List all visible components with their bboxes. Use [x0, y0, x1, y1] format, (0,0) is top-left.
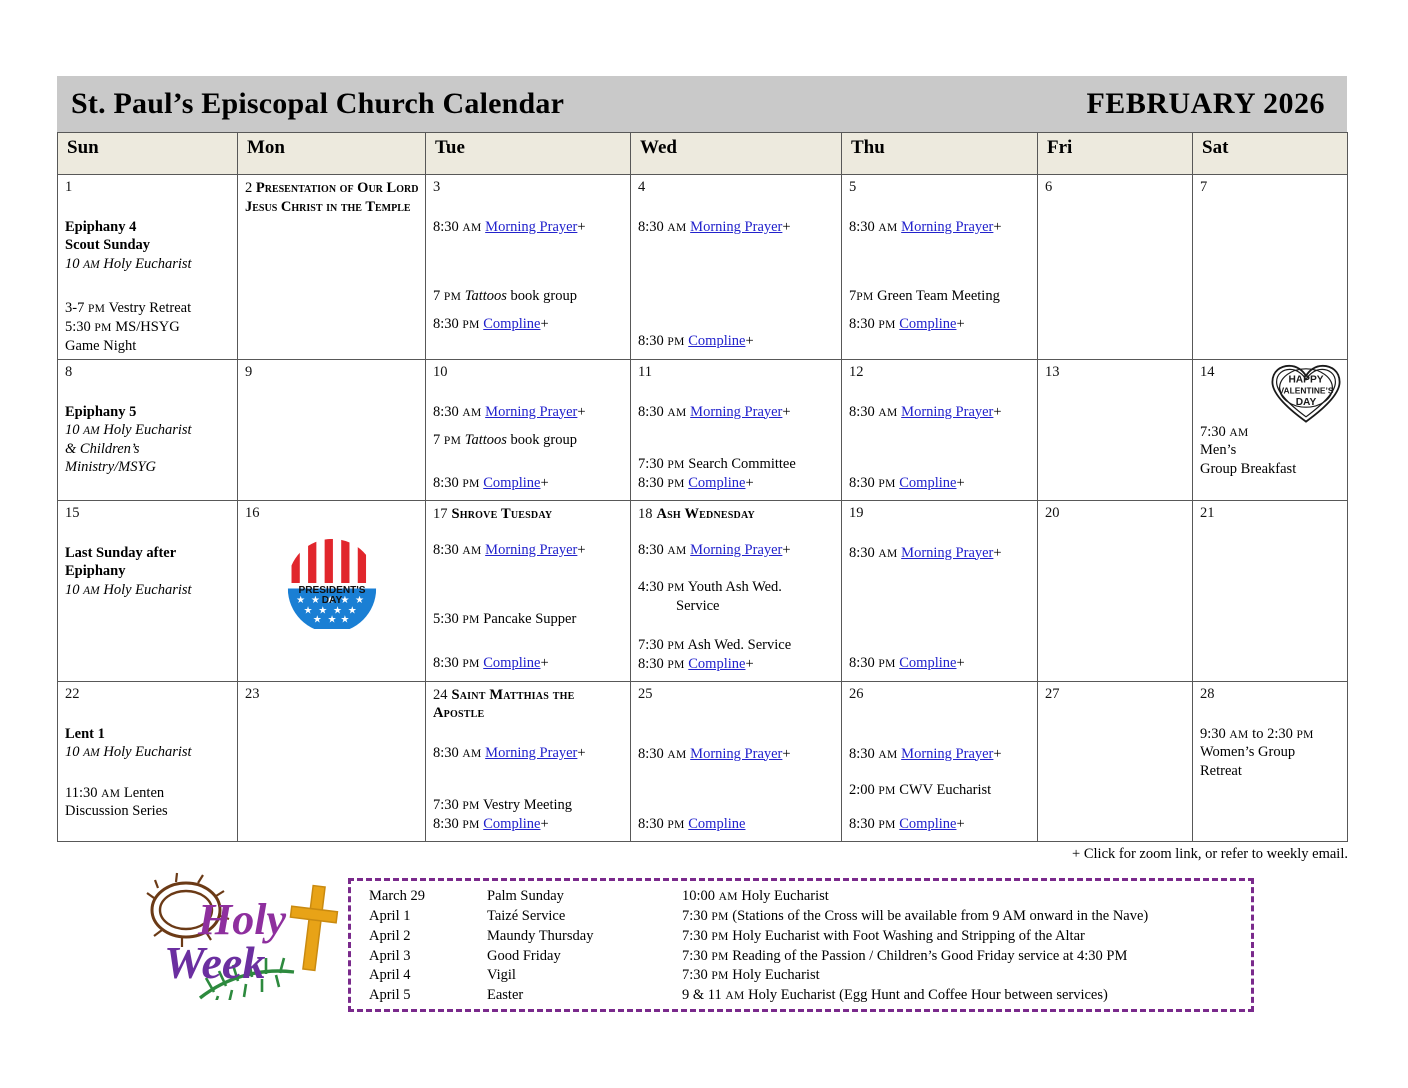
day-number: 12 — [849, 364, 1031, 381]
holy-week-row: March 29Palm Sunday10:00 AM Holy Euchari… — [351, 887, 1251, 907]
day-cell-7[interactable]: 7 — [1193, 175, 1348, 360]
svg-text:HAPPY: HAPPY — [1288, 374, 1323, 385]
day-event: 8:30 PM Compline+ — [849, 315, 1031, 334]
day-event: Retreat — [1200, 762, 1341, 781]
day-event: 5:30 PM MS/HSYG — [65, 318, 231, 337]
holy-week-service-detail: 10:00 AM Holy Eucharist — [682, 887, 1251, 907]
day-number: 27 — [1045, 686, 1186, 703]
presidents-day-badge-icon: ★★★★★ ★★★★ ★★★ PRESIDENT'S DAY — [286, 537, 378, 629]
day-cell-28[interactable]: 28 9:30 AM to 2:30 PM Women’s Group Retr… — [1193, 681, 1348, 841]
svg-text:★: ★ — [303, 605, 312, 616]
day-cell-23[interactable]: 23 — [238, 681, 426, 841]
day-event: 11:30 AM Lenten — [65, 784, 231, 803]
day-cell-19[interactable]: 19 8:30 AM Morning Prayer+ 8:30 PM Compl… — [842, 500, 1038, 681]
calendar-week-row: 1 Epiphany 4 Scout Sunday 10 AM Holy Euc… — [58, 175, 1348, 360]
day-event: 7 PM Tattoos book group — [433, 431, 624, 450]
day-cell-8[interactable]: 8 Epiphany 5 10 AM Holy Eucharist & Chil… — [58, 359, 238, 500]
day-event: 8:30 AM Morning Prayer+ — [433, 218, 624, 237]
day-number: 13 — [1045, 364, 1186, 381]
day-event: Lent 1 — [65, 725, 231, 744]
day-event: 9:30 AM to 2:30 PM — [1200, 725, 1341, 744]
compline-link[interactable]: Compline — [899, 475, 956, 491]
feast-day-label: 18 Ash Wednesday — [638, 505, 835, 523]
day-event: 8:30 AM Morning Prayer+ — [849, 544, 1031, 563]
calendar-title-bar: St. Paul’s Episcopal Church Calendar FEB… — [57, 76, 1347, 132]
day-event: Epiphany — [65, 562, 231, 581]
day-cell-27[interactable]: 27 — [1038, 681, 1193, 841]
holy-week-date: March 29 — [351, 887, 487, 907]
day-cell-26[interactable]: 26 8:30 AM Morning Prayer+ 2:00 PM CWV E… — [842, 681, 1038, 841]
morning-prayer-link[interactable]: Morning Prayer — [901, 404, 993, 420]
day-event: 8:30 PM Compline+ — [433, 315, 624, 334]
day-event: Scout Sunday — [65, 236, 231, 255]
day-event: 8:30 PM Compline+ — [849, 815, 1031, 834]
day-event: 8:30 AM Morning Prayer+ — [433, 744, 624, 763]
day-event: Last Sunday after — [65, 544, 231, 563]
morning-prayer-link[interactable]: Morning Prayer — [690, 542, 782, 558]
compline-link[interactable]: Compline — [688, 475, 745, 491]
day-number: 4 — [638, 179, 835, 196]
day-cell-6[interactable]: 6 — [1038, 175, 1193, 360]
day-cell-25[interactable]: 25 8:30 AM Morning Prayer+ 8:30 PM Compl… — [631, 681, 842, 841]
morning-prayer-link[interactable]: Morning Prayer — [901, 746, 993, 762]
day-number: 6 — [1045, 179, 1186, 196]
day-event: Men’s — [1200, 441, 1341, 460]
weekday-header-sat: Sat — [1193, 133, 1348, 175]
compline-link[interactable]: Compline — [483, 475, 540, 491]
holy-week-date: April 3 — [351, 947, 487, 967]
day-number: 15 — [65, 505, 231, 522]
weekday-header-sun: Sun — [58, 133, 238, 175]
day-event: Ministry/MSYG — [65, 458, 231, 477]
morning-prayer-link[interactable]: Morning Prayer — [485, 219, 577, 235]
calendar-week-row: 15 Last Sunday after Epiphany 10 AM Holy… — [58, 500, 1348, 681]
day-cell-5[interactable]: 5 8:30 AM Morning Prayer+ 7PM Green Team… — [842, 175, 1038, 360]
compline-link[interactable]: Compline — [483, 316, 540, 332]
compline-link[interactable]: Compline — [688, 333, 745, 349]
calendar-week-row: 22 Lent 1 10 AM Holy Eucharist 11:30 AM … — [58, 681, 1348, 841]
day-event: 8:30 PM Compline+ — [433, 654, 624, 673]
svg-text:DAY: DAY — [321, 595, 342, 606]
holy-week-service-name: Palm Sunday — [487, 887, 682, 907]
day-number: 23 — [245, 686, 419, 703]
compline-link[interactable]: Compline — [483, 816, 540, 832]
holy-week-schedule-box: March 29Palm Sunday10:00 AM Holy Euchari… — [348, 878, 1254, 1012]
day-number: 22 — [65, 686, 231, 703]
day-event: 8:30 AM Morning Prayer+ — [638, 745, 835, 764]
morning-prayer-link[interactable]: Morning Prayer — [901, 545, 993, 561]
day-cell-14[interactable]: 14 HAPPY VALENTINE’S DAY 7:30 AM Men’s G… — [1193, 359, 1348, 500]
day-number: 10 — [433, 364, 624, 381]
day-event: Discussion Series — [65, 802, 231, 821]
day-number: 5 — [849, 179, 1031, 196]
holy-week-date: April 2 — [351, 927, 487, 947]
day-event: 8:30 PM Compline+ — [849, 474, 1031, 493]
holy-week-service-name: Easter — [487, 986, 682, 1006]
day-event: 7:30 PM Ash Wed. Service — [638, 636, 835, 655]
day-event: 8:30 PM Compline+ — [433, 815, 624, 834]
compline-link[interactable]: Compline — [899, 655, 956, 671]
day-event: Women’s Group — [1200, 743, 1341, 762]
zoom-link-footnote: + Click for zoom link, or refer to weekl… — [1072, 846, 1348, 863]
day-number: 3 — [433, 179, 624, 196]
holy-week-date: April 4 — [351, 966, 487, 986]
day-event: 7:30 PM Search Committee — [638, 455, 835, 474]
holy-week-date: April 1 — [351, 907, 487, 927]
holy-week-row: April 1Taizé Service7:30 PM (Stations of… — [351, 907, 1251, 927]
holy-week-service-name: Maundy Thursday — [487, 927, 682, 947]
day-number: 21 — [1200, 505, 1341, 522]
day-event: 8:30 AM Morning Prayer+ — [849, 218, 1031, 237]
holy-week-row: April 5Easter9 & 11 AM Holy Eucharist (E… — [351, 986, 1251, 1006]
svg-text:★: ★ — [340, 614, 349, 625]
day-cell-20[interactable]: 20 — [1038, 500, 1193, 681]
day-cell-21[interactable]: 21 — [1193, 500, 1348, 681]
day-event: 8:30 AM Morning Prayer+ — [849, 403, 1031, 422]
morning-prayer-link[interactable]: Morning Prayer — [690, 219, 782, 235]
page-title: St. Paul’s Episcopal Church Calendar — [71, 87, 564, 121]
holy-week-service-detail: 7:30 PM Holy Eucharist with Foot Washing… — [682, 927, 1251, 947]
holy-week-service-name: Good Friday — [487, 947, 682, 967]
day-number: 1 — [65, 179, 231, 196]
day-event: 8:30 AM Morning Prayer+ — [638, 541, 835, 560]
day-event: 2:00 PM CWV Eucharist — [849, 781, 1031, 800]
holy-week-service-name: Vigil — [487, 966, 682, 986]
day-event: Game Night — [65, 337, 231, 356]
day-event: 8:30 PM Compline+ — [849, 654, 1031, 673]
weekday-header-thu: Thu — [842, 133, 1038, 175]
feast-day-label: 17 Shrove Tuesday — [433, 505, 624, 523]
holy-week-row: April 4Vigil7:30 PM Holy Eucharist — [351, 966, 1251, 986]
holy-week-row: April 2Maundy Thursday7:30 PM Holy Eucha… — [351, 927, 1251, 947]
day-event: Epiphany 5 — [65, 403, 231, 422]
day-cell-4[interactable]: 4 8:30 AM Morning Prayer+ 8:30 PM Compli… — [631, 175, 842, 360]
holy-week-service-detail: 7:30 PM Reading of the Passion / Childre… — [682, 947, 1251, 967]
holy-week-logo-icon: Holy Week — [142, 872, 347, 1000]
day-event: 8:30 AM Morning Prayer+ — [638, 218, 835, 237]
morning-prayer-link[interactable]: Morning Prayer — [485, 404, 577, 420]
svg-text:★: ★ — [327, 614, 336, 625]
day-number: 9 — [245, 364, 419, 381]
day-event: 8:30 PM Compline+ — [638, 655, 835, 674]
weekday-header-wed: Wed — [631, 133, 842, 175]
holy-week-service-name: Taizé Service — [487, 907, 682, 927]
feast-day-label: 24 Saint Matthias the Apostle — [433, 686, 624, 722]
day-event: 7:30 PM Vestry Meeting — [433, 796, 624, 815]
compline-link[interactable]: Compline — [688, 816, 745, 832]
morning-prayer-link[interactable]: Morning Prayer — [690, 746, 782, 762]
day-event: & Children’s — [65, 440, 231, 459]
holy-week-service-detail: 7:30 PM Holy Eucharist — [682, 966, 1251, 986]
day-number: 26 — [849, 686, 1031, 703]
day-event: Group Breakfast — [1200, 460, 1341, 479]
day-event: 10 AM Holy Eucharist — [65, 743, 231, 762]
calendar-grid: Sun Mon Tue Wed Thu Fri Sat 1 Epiphany 4… — [57, 132, 1348, 842]
day-event: 8:30 AM Morning Prayer+ — [433, 541, 624, 560]
day-cell-9[interactable]: 9 — [238, 359, 426, 500]
day-cell-3[interactable]: 3 8:30 AM Morning Prayer+ 7 PM Tattoos b… — [426, 175, 631, 360]
day-event: 10 AM Holy Eucharist — [65, 255, 231, 274]
holy-week-row: April 3Good Friday7:30 PM Reading of the… — [351, 947, 1251, 967]
morning-prayer-link[interactable]: Morning Prayer — [690, 404, 782, 420]
day-cell-16[interactable]: 16 — [238, 500, 426, 681]
day-cell-10[interactable]: 10 8:30 AM Morning Prayer+ 7 PM Tattoos … — [426, 359, 631, 500]
day-event: 4:30 PM Youth Ash Wed. — [638, 578, 835, 597]
day-event: 8:30 AM Morning Prayer+ — [433, 403, 624, 422]
calendar-page: St. Paul’s Episcopal Church Calendar FEB… — [0, 0, 1408, 1088]
feast-day-label: 2 Presentation of Our Lord Jesus Christ … — [245, 179, 419, 217]
weekday-header-mon: Mon — [238, 133, 426, 175]
day-number: 16 — [245, 505, 419, 522]
svg-text:Week: Week — [164, 937, 265, 988]
day-cell-17[interactable]: 17 Shrove Tuesday 8:30 AM Morning Prayer… — [426, 500, 631, 681]
day-cell-12[interactable]: 12 8:30 AM Morning Prayer+ 8:30 PM Compl… — [842, 359, 1038, 500]
day-cell-15[interactable]: 15 Last Sunday after Epiphany 10 AM Holy… — [58, 500, 238, 681]
compline-link[interactable]: Compline — [483, 655, 540, 671]
day-cell-13[interactable]: 13 — [1038, 359, 1193, 500]
day-event: 3-7 PM Vestry Retreat — [65, 299, 231, 318]
holy-week-date: April 5 — [351, 986, 487, 1006]
compline-link[interactable]: Compline — [899, 816, 956, 832]
day-number: 20 — [1045, 505, 1186, 522]
day-cell-22[interactable]: 22 Lent 1 10 AM Holy Eucharist 11:30 AM … — [58, 681, 238, 841]
calendar-week-row: 8 Epiphany 5 10 AM Holy Eucharist & Chil… — [58, 359, 1348, 500]
morning-prayer-link[interactable]: Morning Prayer — [901, 219, 993, 235]
day-number: 28 — [1200, 686, 1341, 703]
day-number: 11 — [638, 364, 835, 381]
day-event: 8:30 PM Compline — [638, 815, 835, 834]
compline-link[interactable]: Compline — [899, 316, 956, 332]
day-event: 7PM Green Team Meeting — [849, 287, 1031, 306]
day-number: 8 — [65, 364, 231, 381]
day-number: 7 — [1200, 179, 1341, 196]
day-cell-11[interactable]: 11 8:30 AM Morning Prayer+ 7:30 PM Searc… — [631, 359, 842, 500]
svg-text:★: ★ — [312, 614, 321, 625]
valentines-heart-icon: HAPPY VALENTINE’S DAY — [1270, 364, 1342, 424]
holy-week-table: March 29Palm Sunday10:00 AM Holy Euchari… — [351, 887, 1251, 1006]
day-cell-24[interactable]: 24 Saint Matthias the Apostle 8:30 AM Mo… — [426, 681, 631, 841]
day-cell-1[interactable]: 1 Epiphany 4 Scout Sunday 10 AM Holy Euc… — [58, 175, 238, 360]
day-event: 8:30 AM Morning Prayer+ — [638, 403, 835, 422]
svg-text:DAY: DAY — [1296, 397, 1317, 408]
day-event: 8:30 PM Compline+ — [433, 474, 624, 493]
day-cell-2[interactable]: 2 Presentation of Our Lord Jesus Christ … — [238, 175, 426, 360]
morning-prayer-link[interactable]: Morning Prayer — [485, 542, 577, 558]
svg-text:VALENTINE’S: VALENTINE’S — [1279, 385, 1334, 395]
weekday-header-fri: Fri — [1038, 133, 1193, 175]
day-event: 8:30 AM Morning Prayer+ — [849, 745, 1031, 764]
day-event: 8:30 PM Compline+ — [638, 332, 835, 351]
day-event: 5:30 PM Pancake Supper — [433, 610, 624, 629]
day-event: 10 AM Holy Eucharist — [65, 421, 231, 440]
weekday-header-tue: Tue — [426, 133, 631, 175]
day-event: Service — [638, 597, 835, 616]
holy-week-service-detail: 7:30 PM (Stations of the Cross will be a… — [682, 907, 1251, 927]
compline-link[interactable]: Compline — [688, 656, 745, 672]
day-event: Epiphany 4 — [65, 218, 231, 237]
weekday-header-row: Sun Mon Tue Wed Thu Fri Sat — [58, 133, 1348, 175]
day-event: 10 AM Holy Eucharist — [65, 581, 231, 600]
day-number: 25 — [638, 686, 835, 703]
morning-prayer-link[interactable]: Morning Prayer — [485, 745, 577, 761]
day-event: 7 PM Tattoos book group — [433, 287, 624, 306]
day-cell-18[interactable]: 18 Ash Wednesday 8:30 AM Morning Prayer+… — [631, 500, 842, 681]
day-event: 8:30 PM Compline+ — [638, 474, 835, 493]
day-event: 7:30 AM — [1200, 423, 1341, 442]
day-number: 19 — [849, 505, 1031, 522]
holy-week-service-detail: 9 & 11 AM Holy Eucharist (Egg Hunt and C… — [682, 986, 1251, 1006]
month-year-label: FEBRUARY 2026 — [1086, 87, 1325, 121]
